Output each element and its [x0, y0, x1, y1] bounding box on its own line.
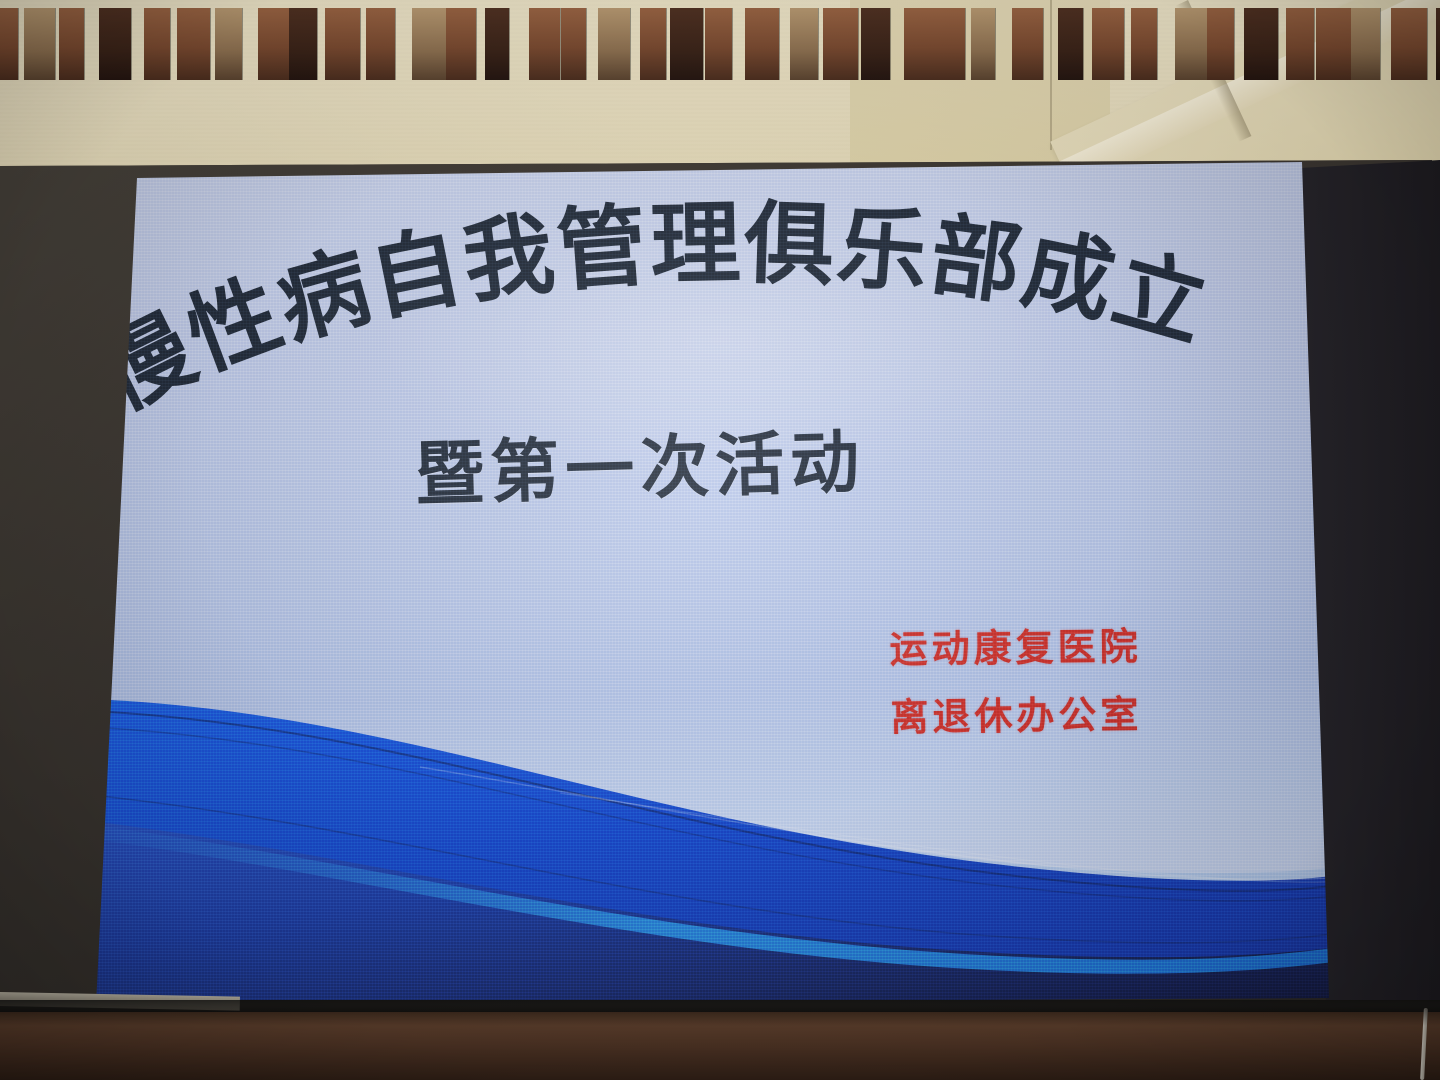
wood-slat	[745, 8, 779, 80]
wood-slat	[861, 8, 890, 80]
wood-slat	[1316, 8, 1351, 80]
wood-slat	[1012, 8, 1043, 80]
wood-slat	[24, 8, 55, 80]
wood-slat	[790, 8, 818, 80]
wood-slat	[1391, 8, 1427, 80]
wood-slat	[1244, 8, 1278, 80]
led-screen-panel: 慢性病自我管理俱乐部成立 暨第一次活动 运动康复医院 离退休办公室	[0, 160, 1440, 1005]
wood-slat	[670, 8, 703, 80]
wood-slat	[640, 8, 666, 80]
wood-slat	[529, 8, 560, 80]
slide-title-line1: 慢性病自我管理俱乐部成立	[90, 194, 1219, 428]
wood-slat	[1207, 8, 1234, 80]
wood-slat	[935, 8, 965, 80]
photo-scene: 慢性病自我管理俱乐部成立 暨第一次活动 运动康复医院 离退休办公室	[0, 0, 1440, 1080]
wood-slat	[177, 8, 210, 80]
wood-slat	[485, 8, 509, 80]
wood-slat	[325, 8, 360, 80]
wood-slat	[1092, 8, 1124, 80]
wood-slat	[971, 8, 995, 80]
wood-slat	[561, 8, 586, 80]
org-line-department: 离退休办公室	[890, 681, 1143, 752]
slide-organization-block: 运动康复医院 离退休办公室	[889, 613, 1143, 752]
wood-slat	[1436, 8, 1440, 80]
wood-slat	[412, 8, 448, 80]
presentation-slide: 慢性病自我管理俱乐部成立 暨第一次活动 运动康复医院 离退休办公室	[90, 160, 1340, 1005]
wave-decoration	[90, 675, 1340, 1005]
wood-slat	[144, 8, 170, 80]
wood-slat	[366, 8, 395, 80]
wood-slat	[59, 8, 84, 80]
wood-slat	[1286, 8, 1314, 80]
wood-slat	[99, 8, 131, 80]
wood-slat	[1131, 8, 1157, 80]
wood-slat	[258, 8, 292, 80]
wood-slat	[1058, 8, 1083, 80]
under-screen-shadow	[0, 1000, 1440, 1026]
org-line-hospital: 运动康复医院	[889, 613, 1142, 684]
wood-slat	[705, 8, 732, 80]
wood-slat	[1351, 8, 1380, 80]
wood-slat	[598, 8, 630, 80]
wood-slat	[823, 8, 858, 80]
title-arc-svg: 慢性病自我管理俱乐部成立	[90, 160, 1340, 460]
wood-slat	[446, 8, 476, 80]
wood-slat	[1175, 8, 1208, 80]
screen-glow	[370, 190, 1070, 490]
ceiling-corner-edge	[1050, 0, 1052, 150]
slide-title-line2: 暨第一次活动	[414, 406, 867, 519]
wood-slat	[289, 8, 317, 80]
wood-slat	[0, 8, 18, 80]
slide-title-block: 慢性病自我管理俱乐部成立 暨第一次活动	[90, 160, 1340, 580]
wood-slat	[215, 8, 242, 80]
